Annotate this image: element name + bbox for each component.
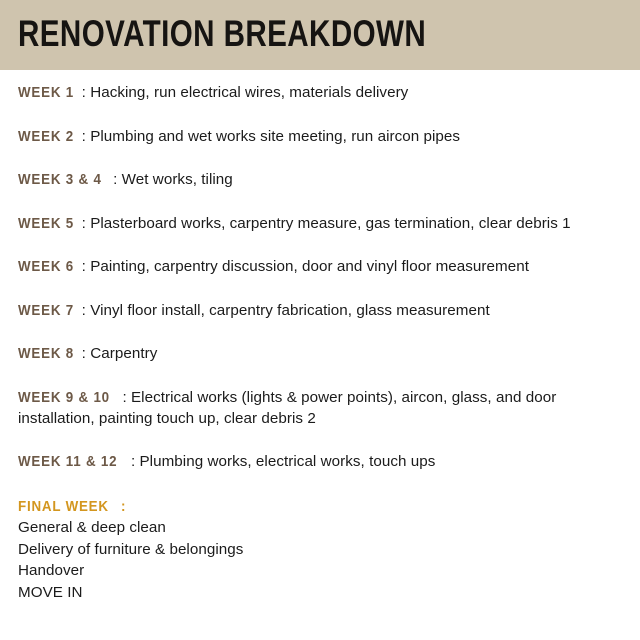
week-separator: : xyxy=(113,171,117,188)
week-separator: : xyxy=(82,128,86,145)
week-separator: : xyxy=(122,389,126,406)
week-separator: : xyxy=(131,453,135,470)
header-band: RENOVATION BREAKDOWN xyxy=(0,0,640,70)
week-separator: : xyxy=(82,345,86,362)
week-label: WEEK 11 & 12 xyxy=(18,451,117,472)
week-description: Carpentry xyxy=(90,345,157,362)
week-label: WEEK 6 xyxy=(18,256,74,277)
renovation-breakdown-page: RENOVATION BREAKDOWN WEEK 1: Hacking, ru… xyxy=(0,0,640,640)
week-label: WEEK 5 xyxy=(18,213,74,234)
week-label: WEEK 2 xyxy=(18,126,74,147)
schedule-row: WEEK 2: Plumbing and wet works site meet… xyxy=(18,126,618,147)
final-week-separator: : xyxy=(121,498,126,515)
final-week-heading-row: FINAL WEEK: xyxy=(18,498,618,517)
schedule-row: WEEK 3 & 4: Wet works, tiling xyxy=(18,169,618,190)
final-week-item: Delivery of furniture & belongings xyxy=(18,539,618,561)
page-title: RENOVATION BREAKDOWN xyxy=(18,14,426,54)
final-week-heading: FINAL WEEK xyxy=(18,498,109,515)
week-description: Hacking, run electrical wires, materials… xyxy=(90,84,408,101)
week-description: Painting, carpentry discussion, door and… xyxy=(90,258,529,275)
schedule-list: WEEK 1: Hacking, run electrical wires, m… xyxy=(18,82,618,495)
week-label: WEEK 7 xyxy=(18,300,74,321)
week-description: Plumbing and wet works site meeting, run… xyxy=(90,128,460,145)
schedule-row: WEEK 6: Painting, carpentry discussion, … xyxy=(18,256,618,277)
schedule-row: WEEK 8: Carpentry xyxy=(18,343,618,364)
schedule-row: WEEK 9 & 10: Electrical works (lights & … xyxy=(18,387,618,429)
week-description: Wet works, tiling xyxy=(122,171,233,188)
week-label: WEEK 8 xyxy=(18,343,74,364)
week-description: Vinyl floor install, carpentry fabricati… xyxy=(90,302,490,319)
week-separator: : xyxy=(82,215,86,232)
final-week-item: Handover xyxy=(18,560,618,582)
schedule-row: WEEK 1: Hacking, run electrical wires, m… xyxy=(18,82,618,103)
week-description: Plumbing works, electrical works, touch … xyxy=(140,453,436,470)
week-separator: : xyxy=(82,302,86,319)
final-week-item: MOVE IN xyxy=(18,582,618,604)
final-week-item: General & deep clean xyxy=(18,517,618,539)
schedule-row: WEEK 7: Vinyl floor install, carpentry f… xyxy=(18,300,618,321)
final-week-block: FINAL WEEK: General & deep clean Deliver… xyxy=(18,498,618,603)
schedule-row: WEEK 5: Plasterboard works, carpentry me… xyxy=(18,213,618,234)
week-label: WEEK 9 & 10 xyxy=(18,387,110,408)
week-separator: : xyxy=(82,84,86,101)
week-label: WEEK 3 & 4 xyxy=(18,169,102,190)
week-description: Plasterboard works, carpentry measure, g… xyxy=(90,215,570,232)
week-separator: : xyxy=(82,258,86,275)
schedule-row: WEEK 11 & 12: Plumbing works, electrical… xyxy=(18,451,618,472)
week-label: WEEK 1 xyxy=(18,82,74,103)
